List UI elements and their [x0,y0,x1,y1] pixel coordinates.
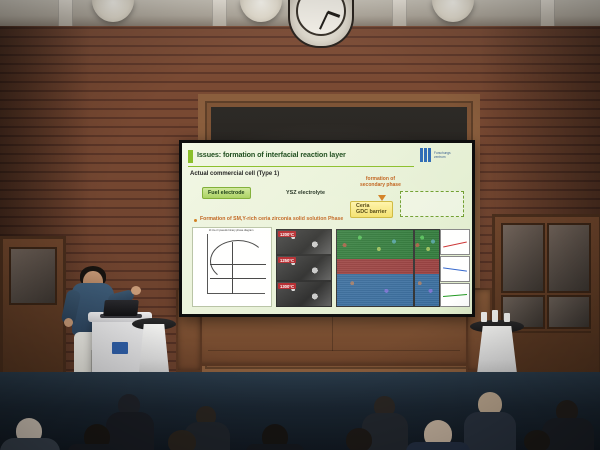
bullet-dot-icon [194,219,197,222]
institution-logo: Forschungszentrum [420,146,466,163]
panel-groove [208,350,460,351]
ceiling-beam [212,0,227,26]
temp-tag-1200: 1200°C [278,231,296,237]
graph-series-line [443,267,467,271]
ceiling-beam [58,0,73,26]
slide-title-rule [188,166,414,167]
audience-body [406,442,470,450]
slide-accent-bar [188,150,193,163]
cabinet-glass-pane [9,247,57,305]
cup [492,310,498,322]
cup [504,313,510,322]
graph-series-line [443,294,467,297]
phase-diagram-axes [207,234,265,294]
phase-tie-line [210,278,266,279]
audience-body [464,412,516,450]
chip-fuel-electrode: Fuel electrode [202,187,251,199]
wooden-cabinet-left [0,236,66,382]
phase-diagram-panel: Zr-Ce-O pseudo binary phase diagram [192,227,272,307]
slide: Issues: formation of interfacial reactio… [182,143,472,314]
line-graph-top [440,229,470,255]
elemental-map-strip [414,229,440,307]
slide-title: Issues: formation of interfacial reactio… [197,150,346,159]
logo-text: Forschungszentrum [434,151,451,159]
line-graph-bottom [440,283,470,307]
ceiling-beam [540,0,555,26]
audience-body [0,438,60,450]
podium-badge [112,342,128,354]
elemental-map-speckle [415,230,439,306]
phase-tie-line [210,264,266,265]
graph-series-line [443,242,467,248]
slide-bullet: Formation of SM,Y-rich ceria zirconia so… [200,216,343,222]
presentation-display: Issues: formation of interfacial reactio… [179,140,475,317]
clock-face [296,0,346,36]
phase-diagram-caption: Zr-Ce-O pseudo binary phase diagram [209,229,253,232]
cup [481,312,487,322]
dashed-callout-box [400,191,464,217]
audience-body [542,418,594,450]
label-secondary-phase: formation ofsecondary phase [360,176,401,188]
temp-tag-1300: 1300°C [278,283,296,289]
cabinet-glass-pane [547,223,591,293]
cabinet-glass-pane [501,223,545,293]
laptop [103,300,139,316]
elemental-map-speckle [337,230,413,306]
chip-gdc-barrier: CeriaGDC barrier [350,201,393,218]
label-electrolyte: YSZ electrolyte [286,190,325,196]
phase-vertical-line [232,242,233,294]
audience-head [524,430,550,450]
cabinet-glass-pane [547,295,591,329]
line-graph-middle [440,256,470,282]
speaker-right-hand [131,286,141,295]
clock-minute-hand [319,12,329,30]
audience-head [346,428,372,450]
logo-mark-icon [420,148,432,162]
phase-boundary-curve [210,240,266,282]
audience-body [68,444,126,450]
audience-head [168,430,196,450]
ceiling-beam [392,0,407,26]
elemental-map [336,229,414,307]
photo-scene: Issues: formation of interfacial reactio… [0,0,600,450]
speaker-left-hand [64,318,73,327]
temp-tag-1250: 1250°C [278,257,296,263]
audience-body [246,444,304,450]
slide-subtitle: Actual commercial cell (Type 1) [190,171,279,177]
